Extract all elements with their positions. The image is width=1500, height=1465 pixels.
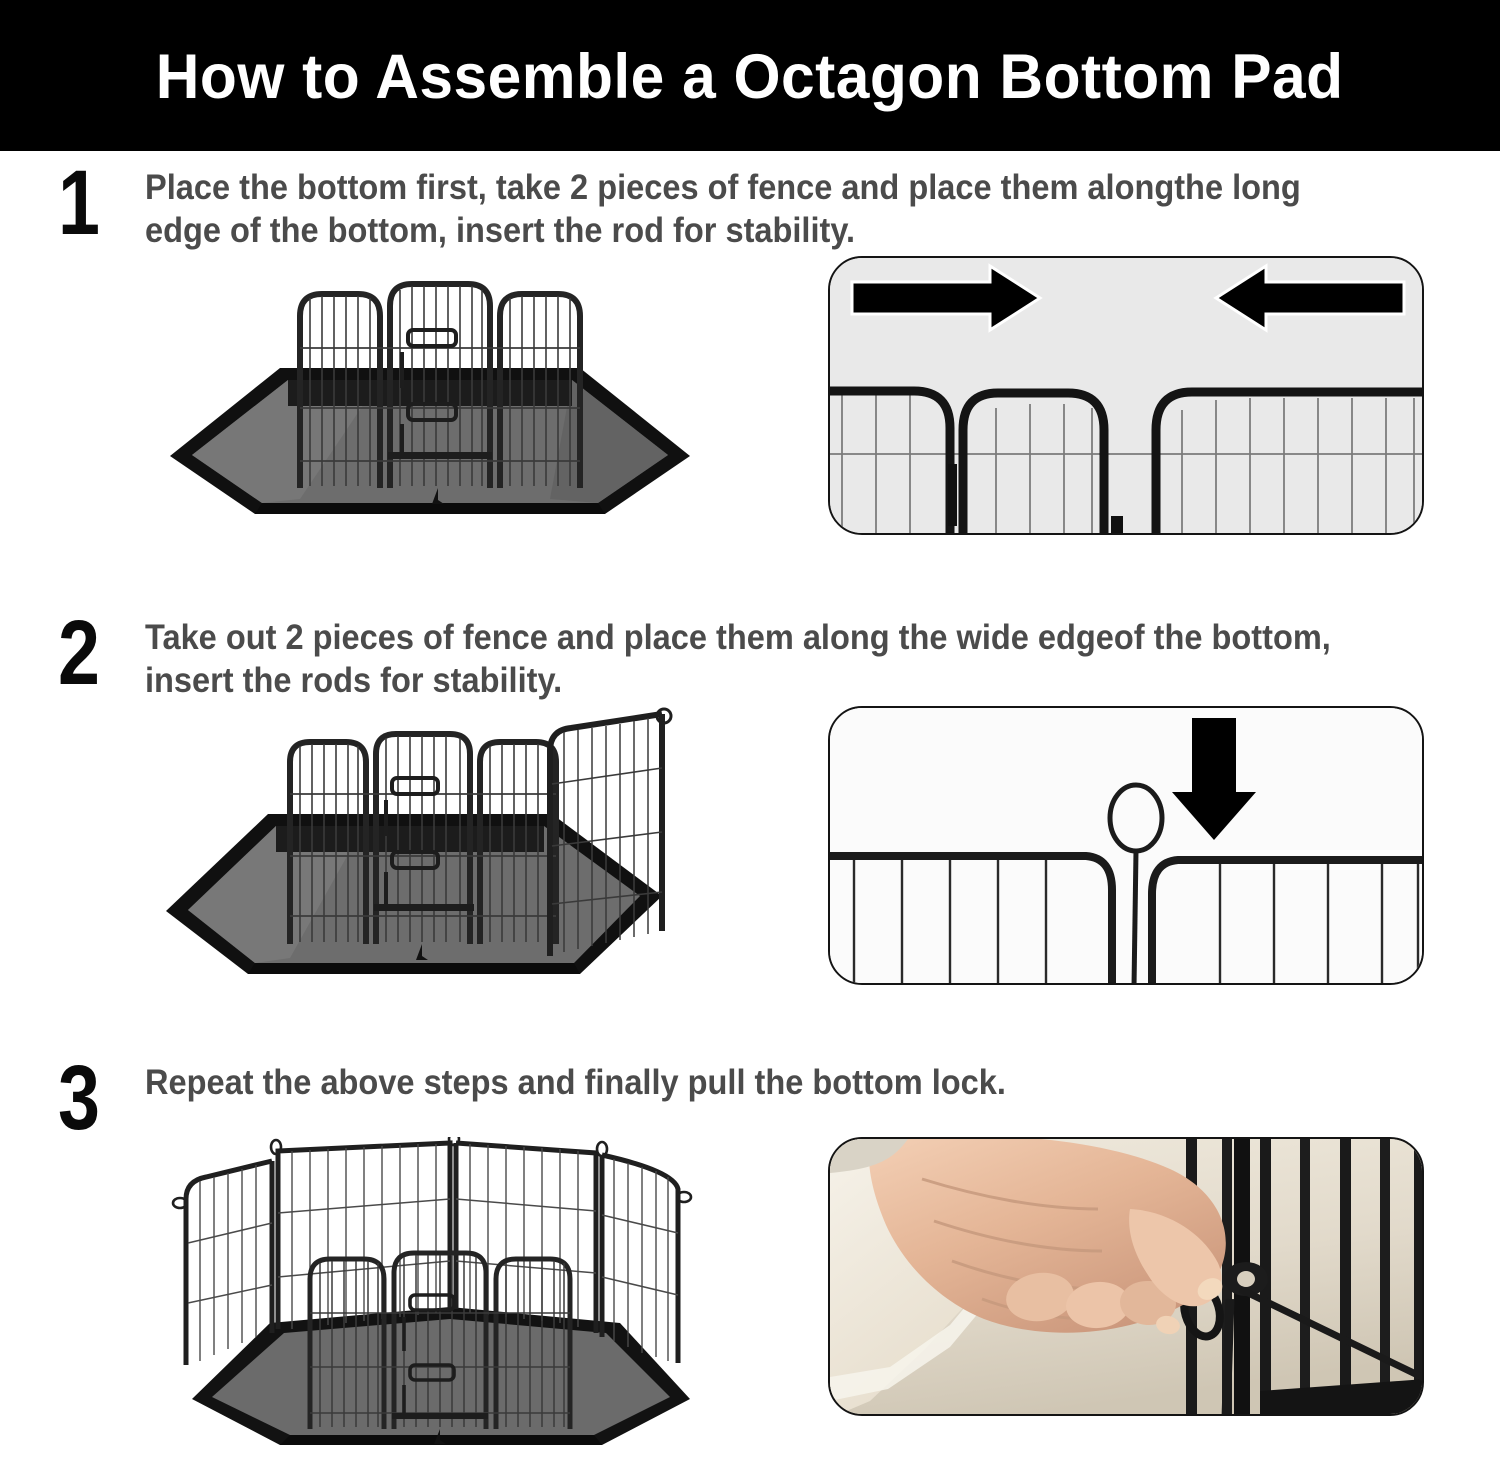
gate-bottom-bar — [388, 452, 492, 459]
detail-panel-frame-2 — [828, 706, 1424, 985]
detail-fence-panels-slide-together — [828, 256, 1428, 546]
step-3-instruction: Repeat the above steps and finally pull … — [145, 1061, 1345, 1104]
step-2: 2 Take out 2 pieces of fence and place t… — [0, 610, 1500, 1006]
octagon-pen-complete-svg — [150, 1137, 720, 1457]
detail-1-svg — [830, 258, 1424, 535]
gate-bottom-bar — [392, 1413, 488, 1419]
rod-shaft — [1134, 851, 1136, 985]
step-1-panels — [0, 256, 1500, 556]
hook-ring-back-right-icon — [597, 1142, 607, 1156]
step-2-panels — [0, 706, 1500, 1006]
illustration-octagon-pad-fully-assembled — [150, 1137, 720, 1457]
step-2-heading: 2 Take out 2 pieces of fence and place t… — [0, 610, 1500, 706]
detail-panel-frame-3 — [828, 1137, 1424, 1416]
detail-panel-frame-1 — [828, 256, 1424, 535]
detail-3-svg — [830, 1139, 1424, 1416]
detail-2-svg — [830, 708, 1424, 985]
pad-front-rim — [248, 963, 580, 974]
step-1: 1 Place the bottom first, take 2 pieces … — [0, 160, 1500, 556]
header-band: How to Assemble a Octagon Bottom Pad — [0, 0, 1500, 151]
pad-front-rim — [255, 503, 605, 514]
hinge-nub-left — [948, 464, 957, 526]
step-1-instruction: Place the bottom first, take 2 pieces of… — [145, 166, 1345, 252]
step-3-heading: 3 Repeat the above steps and finally pul… — [0, 1055, 1500, 1137]
detail-hand-pulling-bottom-lock — [828, 1137, 1428, 1427]
step-3: 3 Repeat the above steps and finally pul… — [0, 1055, 1500, 1457]
hook-ring-center-icon — [449, 1137, 459, 1145]
octagon-pad-two-panels-svg — [150, 256, 710, 556]
detail-insert-rod-into-panel-joint — [828, 706, 1428, 996]
step-2-number: 2 — [58, 610, 100, 696]
fence-panel-back-right — [456, 1143, 596, 1333]
step-3-panels — [0, 1137, 1500, 1457]
illustration-octagon-pad-with-two-panels — [150, 256, 710, 556]
hinge-nub-middle — [1111, 516, 1123, 535]
step-2-instruction: Take out 2 pieces of fence and place the… — [145, 616, 1345, 702]
step-3-number: 3 — [58, 1055, 100, 1141]
gate-bottom-bar — [374, 904, 474, 911]
page-title: How to Assemble a Octagon Bottom Pad — [156, 46, 1344, 109]
step-1-number: 1 — [58, 160, 100, 246]
step-1-heading: 1 Place the bottom first, take 2 pieces … — [0, 160, 1500, 256]
octagon-pad-four-panels-svg — [150, 706, 710, 1006]
illustration-octagon-pad-with-four-panels — [150, 706, 710, 1006]
